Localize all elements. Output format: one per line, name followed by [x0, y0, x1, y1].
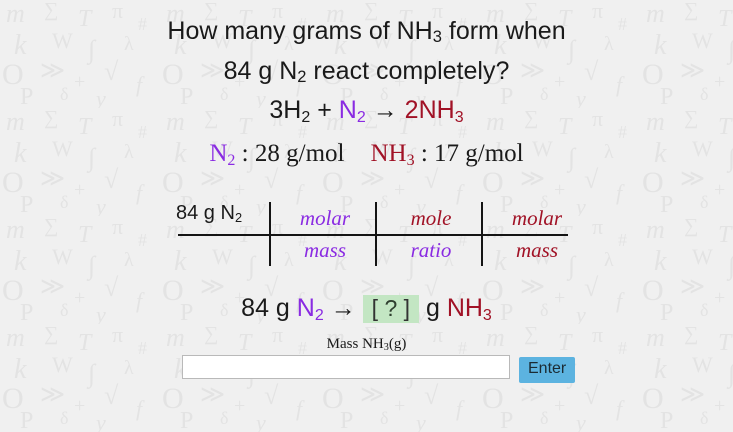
- answer-arrow-icon: →: [331, 294, 356, 322]
- grid-cell-1-numerator: molar: [273, 206, 377, 231]
- molar-mass-1-formula-text: NH: [370, 140, 406, 167]
- equation-product-ammonia: 2NH3: [405, 96, 464, 124]
- grid-cell-3-numerator: molar: [485, 206, 589, 231]
- molar-mass-1-separator: :: [415, 140, 434, 167]
- question-line-1-sub: 3: [433, 28, 442, 46]
- grid-cell-1-denominator: mass: [273, 238, 377, 263]
- equation-reactant1-sub: 2: [301, 109, 310, 126]
- equation-plus-sign: +: [317, 96, 332, 124]
- equation-reactant-hydrogen: 3H2: [269, 96, 310, 124]
- equation-arrow-icon: →: [373, 96, 398, 124]
- grid-cell-2-numerator: mole: [379, 206, 483, 231]
- unknown-answer-placeholder: [ ? ]: [363, 295, 419, 323]
- molar-mass-0-separator: :: [235, 140, 254, 167]
- answer-given-mass: 84 g: [241, 294, 297, 322]
- grid-cell-3-denominator: mass: [485, 238, 589, 263]
- question-line-1: How many grams of NH3 form when: [0, 14, 733, 54]
- question-line-2-post: react completely?: [306, 57, 509, 85]
- molar-mass-reference: N2 : 28 g/molNH3 : 17 g/mol: [0, 140, 733, 170]
- answer-field-label: Mass NH3(g): [0, 336, 733, 353]
- bracket-close: ]: [404, 295, 410, 321]
- equation-reactant-nitrogen: N2: [339, 96, 366, 124]
- grid-vertical-divider-1: [269, 202, 271, 266]
- grid-cell-molar-mass-n2: molar mass: [273, 206, 377, 268]
- dimensional-analysis-grid: 84 g N2 molar mass mole ratio molar mass: [176, 198, 576, 274]
- grid-given-sub: 2: [235, 210, 242, 225]
- grid-given-text: 84 g N: [176, 202, 235, 224]
- question-title: How many grams of NH3 form when 84 g N2 …: [0, 14, 733, 94]
- answer-product-text: NH: [447, 294, 483, 322]
- grid-cell-mole-ratio: mole ratio: [379, 206, 483, 268]
- answer-field-label-post: (g): [389, 336, 407, 352]
- question-line-2-pre: 84 g N: [224, 57, 298, 85]
- equation-product-text: 2NH: [405, 96, 455, 124]
- enter-button[interactable]: Enter: [519, 357, 575, 383]
- molar-mass-0-formula: N2: [209, 140, 235, 167]
- answer-product-formula: NH3: [447, 294, 492, 322]
- answer-given-formula: N2: [297, 294, 324, 322]
- molar-mass-1-value: 17 g/mol: [434, 140, 524, 167]
- answer-product-sub: 3: [483, 307, 492, 324]
- answer-given-formula-text: N: [297, 294, 315, 322]
- answer-given-formula-sub: 2: [315, 307, 324, 324]
- conversion-summary-line: 84 g N2 → [ ? ] g NH3: [0, 294, 733, 325]
- question-line-2: 84 g N2 react completely?: [0, 54, 733, 94]
- answer-unit: g: [419, 294, 447, 322]
- grid-given-quantity: 84 g N2: [176, 202, 242, 225]
- answer-field-label-pre: Mass NH: [327, 336, 384, 352]
- grid-cell-molar-mass-nh3: molar mass: [485, 206, 589, 268]
- molar-mass-1-formula: NH3: [370, 140, 414, 167]
- equation-reactant1-text: 3H: [269, 96, 301, 124]
- equation-reactant2-sub: 2: [357, 109, 366, 126]
- molar-mass-1-formula-sub: 3: [407, 152, 415, 169]
- bracket-open: [: [372, 295, 378, 321]
- unknown-question-mark: ?: [384, 295, 397, 321]
- question-line-1-post: form when: [442, 17, 566, 45]
- question-line-1-pre: How many grams of NH: [167, 17, 432, 45]
- equation-reactant2-text: N: [339, 96, 357, 124]
- molar-mass-0-formula-text: N: [209, 140, 227, 167]
- answer-input[interactable]: [182, 355, 510, 379]
- equation-product-sub: 3: [455, 109, 464, 126]
- balanced-equation: 3H2 + N2 → 2NH3: [0, 96, 733, 127]
- molar-mass-0-value: 28 g/mol: [255, 140, 345, 167]
- grid-cell-2-denominator: ratio: [379, 238, 483, 263]
